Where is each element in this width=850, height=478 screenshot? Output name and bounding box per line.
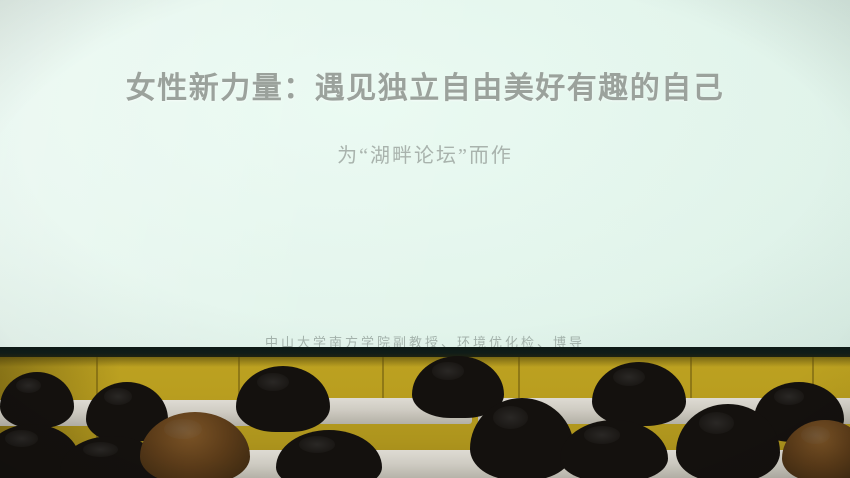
screen-light-sheen	[0, 0, 850, 350]
screen-vignette	[0, 0, 850, 350]
wall-top-shadow	[0, 357, 850, 367]
projection-screen	[0, 0, 850, 350]
slide-title: 女性新力量：遇见独立自由美好有趣的自己	[0, 63, 850, 107]
lecture-hall-photo: 女性新力量：遇见独立自由美好有趣的自己 为“湖畔论坛”而作 中山大学南方学院副教…	[0, 0, 850, 478]
slide-subtitle: 为“湖畔论坛”而作	[0, 139, 850, 168]
